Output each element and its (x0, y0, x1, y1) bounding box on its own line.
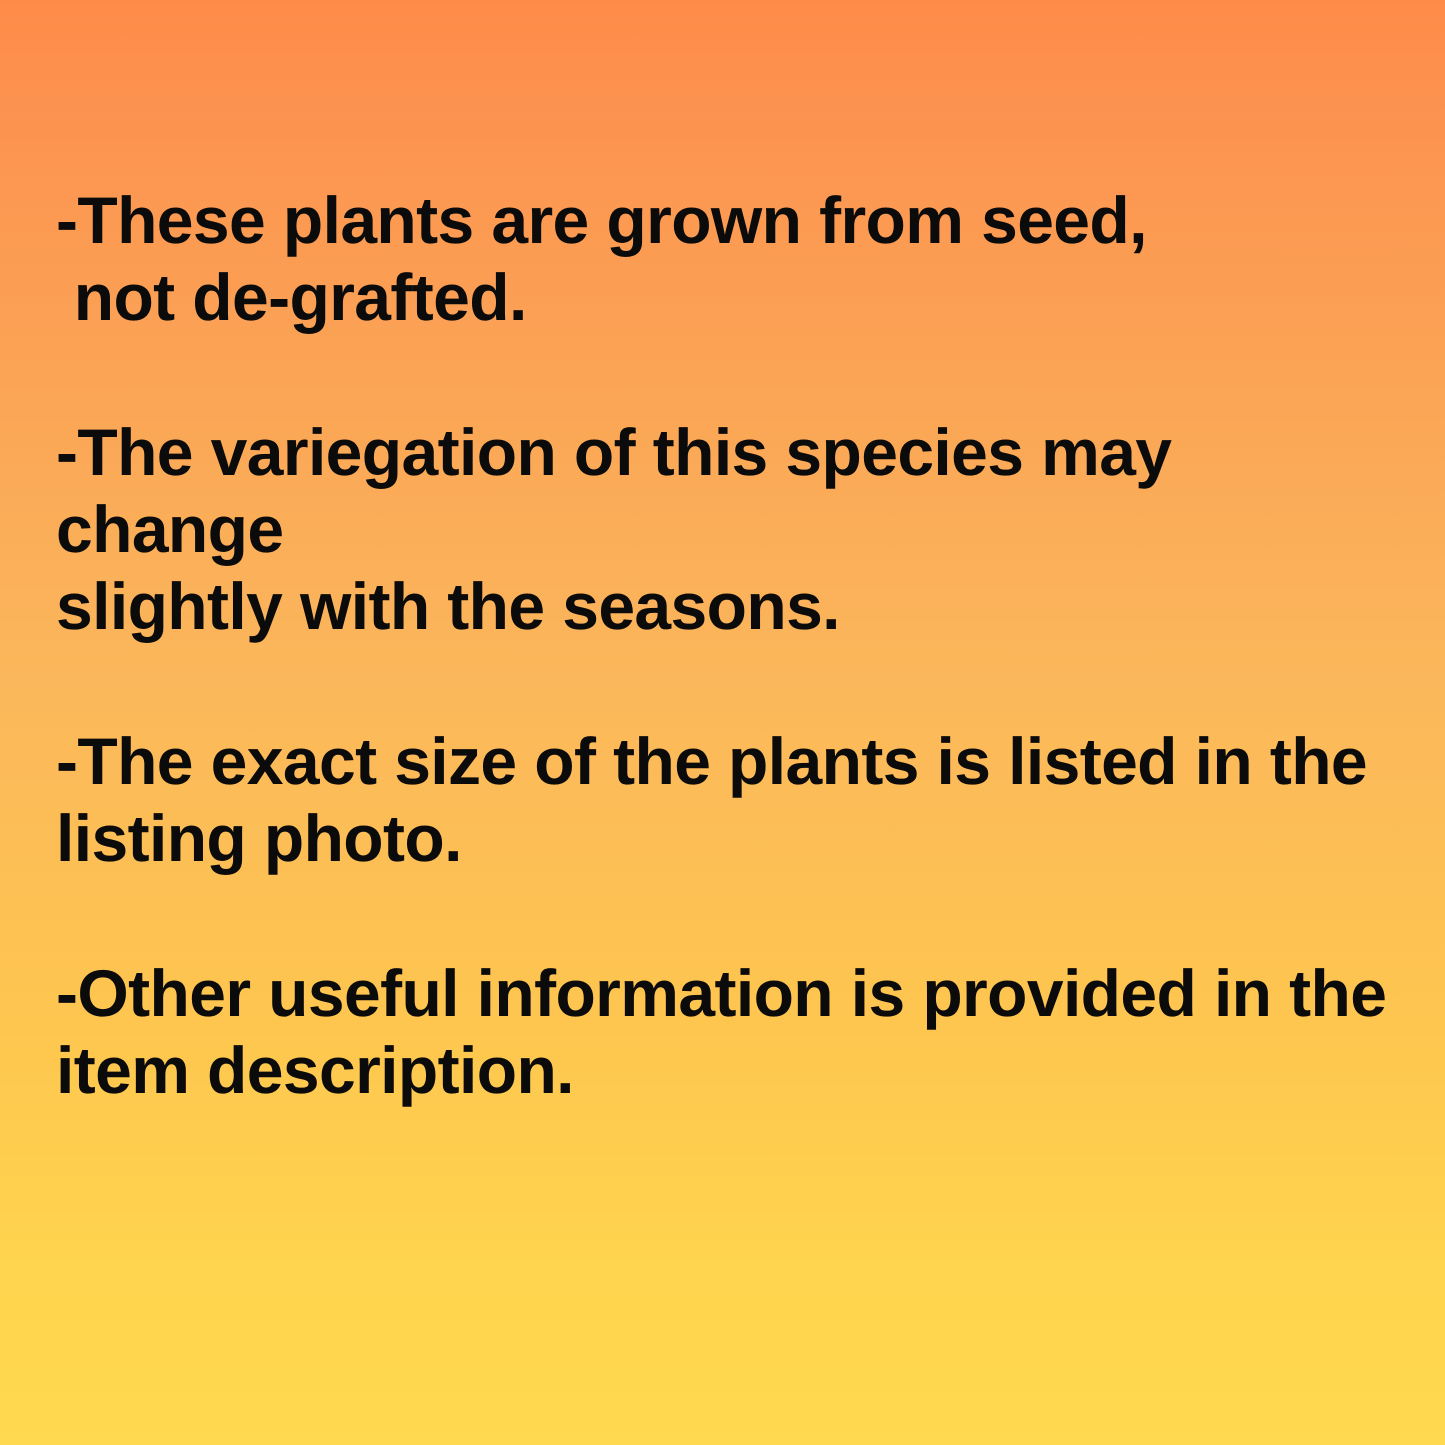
list-item: -These plants are grown from seed, not d… (56, 182, 1396, 336)
list-item: -The variegation of this species may cha… (56, 414, 1396, 645)
list-item: -The exact size of the plants is listed … (56, 723, 1396, 877)
info-card: -These plants are grown from seed, not d… (0, 0, 1445, 1445)
list-item: -Other useful information is provided in… (56, 955, 1396, 1109)
bullet-list: -These plants are grown from seed, not d… (56, 182, 1396, 1109)
